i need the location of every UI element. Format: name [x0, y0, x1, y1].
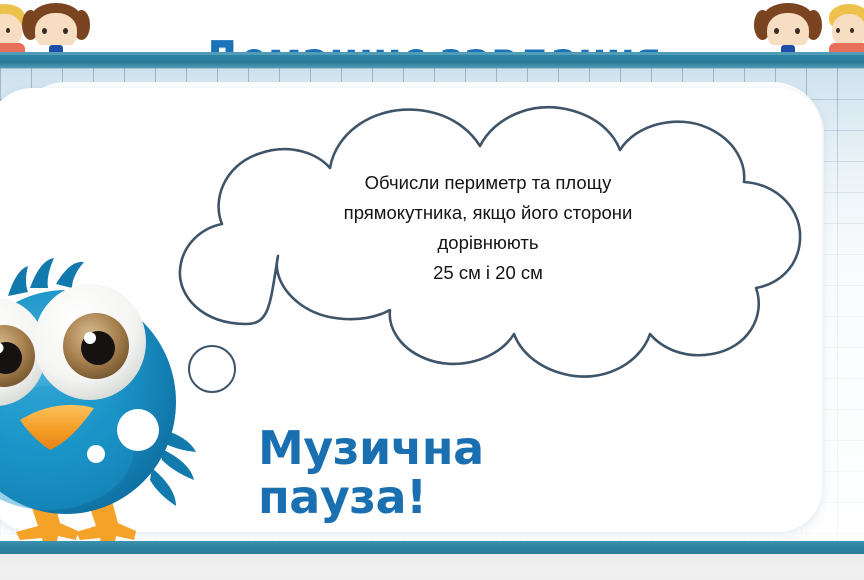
eye-icon	[836, 28, 840, 33]
blue-bird-mascot-icon	[0, 252, 248, 552]
eye-icon	[6, 28, 10, 33]
kid-boy-right	[826, 0, 864, 57]
eye-icon	[774, 28, 779, 34]
bubble-text: Обчисли периметр та площу прямокутника, …	[258, 168, 718, 288]
eye-icon	[63, 28, 68, 34]
below-rail-strip	[0, 554, 864, 580]
music-pause-caption: Музична пауза!	[258, 424, 618, 522]
header-bar: Домашнє завдання	[0, 0, 864, 57]
kids-clipart-right	[738, 0, 864, 57]
top-rail-highlight	[0, 52, 864, 55]
eye-icon	[850, 28, 854, 33]
thought-bubble-icon: Обчисли периметр та площу прямокутника, …	[150, 72, 830, 402]
eye-icon	[795, 28, 800, 34]
kid-girl-right	[752, 0, 824, 57]
kid-girl-left	[20, 0, 92, 57]
bottom-blue-rail	[0, 541, 864, 554]
slide-canvas: Домашнє завдання	[0, 0, 864, 580]
eye-icon	[42, 28, 47, 34]
